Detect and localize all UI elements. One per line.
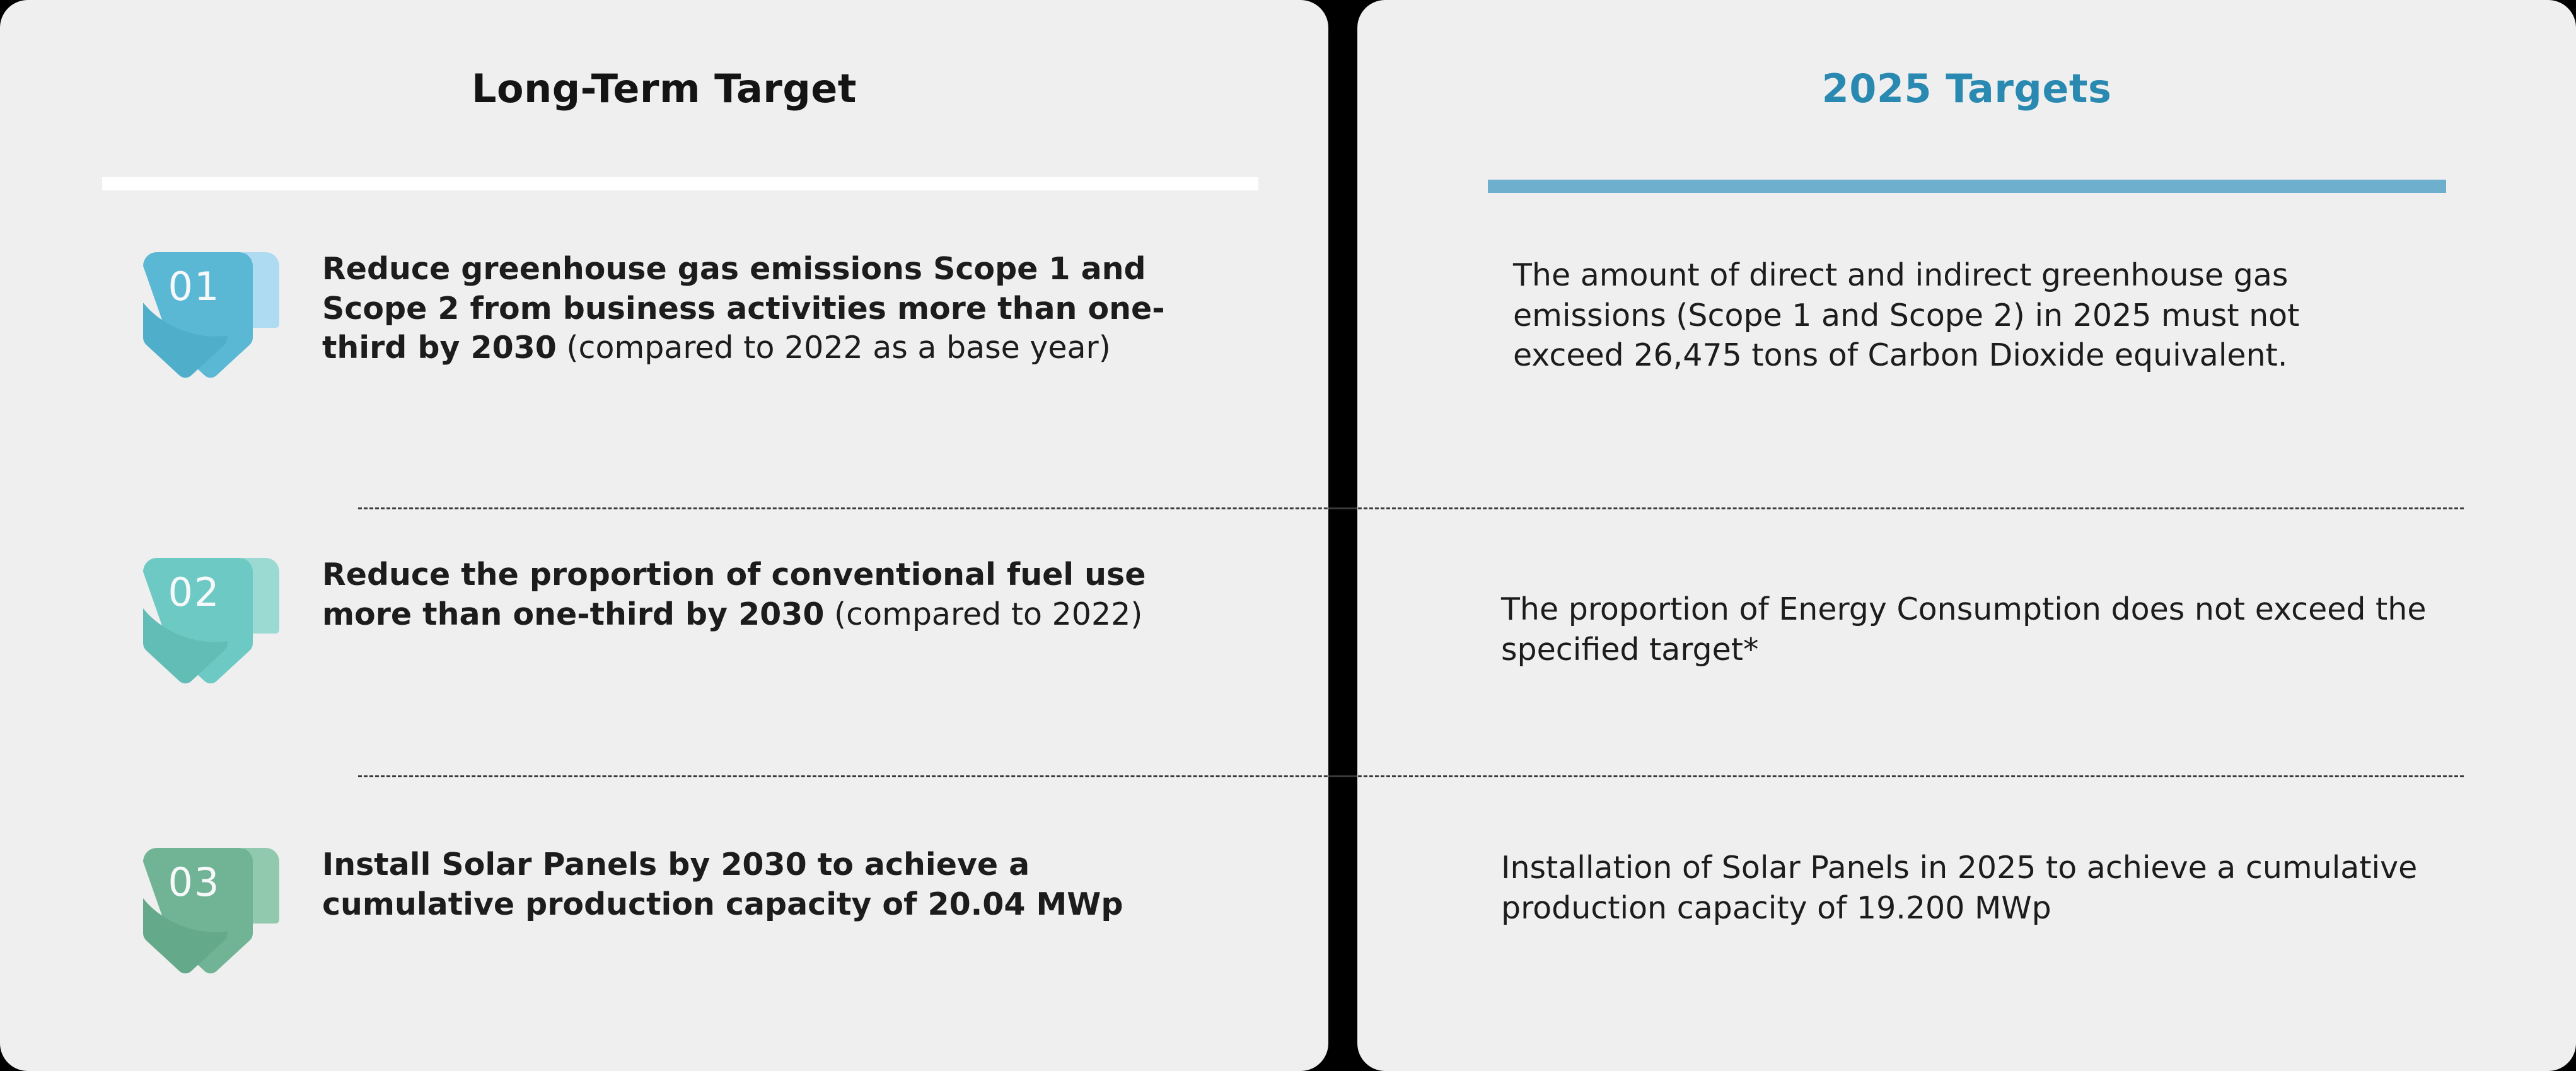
targets-2025-underline xyxy=(1488,180,2446,193)
step-badge-01: 01 xyxy=(136,246,293,391)
target-2025-row-1-text: The amount of direct and indirect greenh… xyxy=(1513,255,2408,376)
row-divider-2 xyxy=(358,775,2464,777)
long-term-target-heading: Long-Term Target xyxy=(0,69,1328,108)
long-term-row-2-text: Reduce the proportion of conventional fu… xyxy=(322,552,1217,634)
long-term-row-2-normal: (compared to 2022) xyxy=(824,596,1142,632)
row-divider-1-gutter xyxy=(1328,507,1357,509)
targets-2025-heading: 2025 Targets xyxy=(1357,69,2576,108)
long-term-row-3: 03 Install Solar Panels by 2030 to achie… xyxy=(0,842,1328,987)
step-badge-number: 02 xyxy=(136,573,253,612)
long-term-target-underline xyxy=(102,177,1258,190)
step-badge-number: 01 xyxy=(136,267,253,306)
step-badge-number: 03 xyxy=(136,863,253,902)
long-term-row-1: 01 Reduce greenhouse gas emissions Scope… xyxy=(0,246,1328,391)
long-term-row-2: 02 Reduce the proportion of conventional… xyxy=(0,552,1328,697)
target-2025-row-2: The proportion of Energy Consumption doe… xyxy=(1357,589,2576,669)
step-badge-03: 03 xyxy=(136,842,293,987)
long-term-row-3-text: Install Solar Panels by 2030 to achieve … xyxy=(322,842,1217,924)
row-divider-2-gutter xyxy=(1328,775,1357,777)
infographic-canvas: Long-Term Target 2025 Targets 01 Reduce … xyxy=(0,0,2576,1071)
target-2025-row-3: Installation of Solar Panels in 2025 to … xyxy=(1357,848,2576,928)
target-2025-row-2-text: The proportion of Energy Consumption doe… xyxy=(1501,589,2428,669)
long-term-row-3-bold: Install Solar Panels by 2030 to achieve … xyxy=(322,847,1123,922)
long-term-row-1-text: Reduce greenhouse gas emissions Scope 1 … xyxy=(322,246,1217,368)
long-term-row-1-normal: (compared to 2022 as a base year) xyxy=(557,330,1111,366)
target-2025-row-1: The amount of direct and indirect greenh… xyxy=(1357,255,2576,376)
step-badge-02: 02 xyxy=(136,552,293,697)
row-divider-1 xyxy=(358,507,2464,509)
target-2025-row-3-text: Installation of Solar Panels in 2025 to … xyxy=(1501,848,2447,928)
